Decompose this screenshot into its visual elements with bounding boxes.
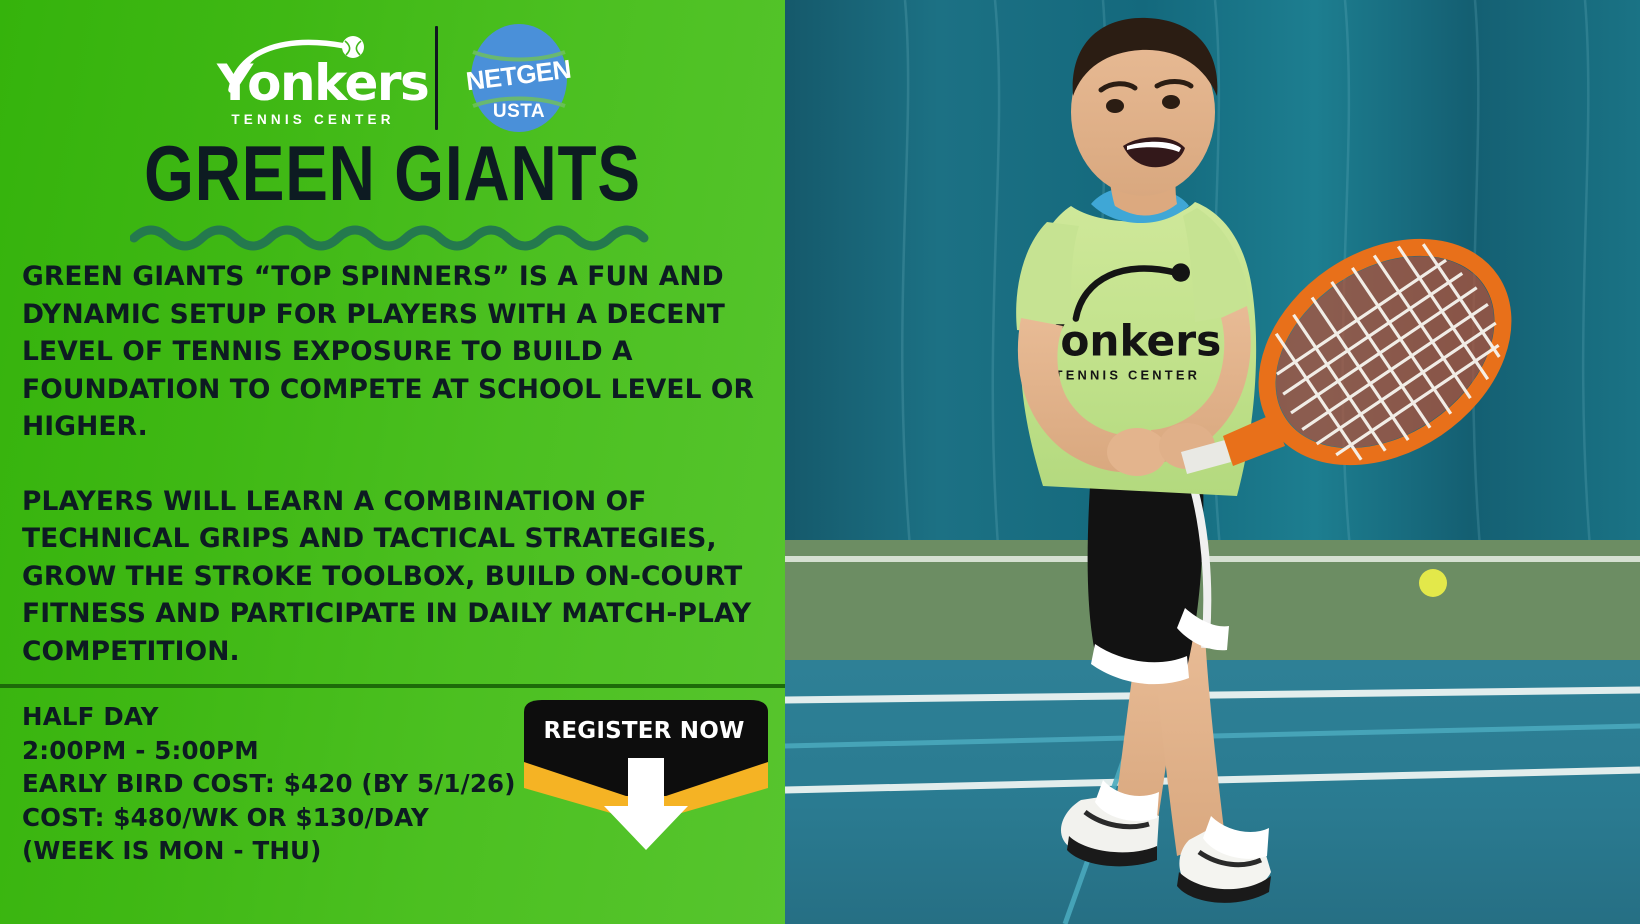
svg-text:TENNIS CENTER: TENNIS CENTER (1055, 367, 1201, 382)
detail-session-time: 2:00PM - 5:00PM (22, 734, 522, 768)
detail-cost: COST: $480/WK OR $130/DAY (22, 801, 522, 835)
detail-session-type: HALF DAY (22, 700, 522, 734)
page-title: GREEN GIANTS (71, 134, 715, 212)
club-name: Yonkers (217, 58, 413, 108)
svg-text:Yonkers: Yonkers (1033, 316, 1222, 365)
apron-line (785, 556, 1640, 562)
tennis-ball (1419, 569, 1447, 597)
paragraph-spacer (22, 446, 767, 483)
svg-text:USTA: USTA (493, 101, 545, 122)
photo-illustration: Yonkers TENNIS CENTER (785, 0, 1640, 924)
player-eye-left (1106, 99, 1124, 113)
player-left-hand (1107, 428, 1167, 476)
netgen-ball-icon: NETGEN USTA (466, 22, 572, 134)
yonkers-tennis-center-logo: Yonkers TENNIS CENTER (213, 28, 413, 128)
body-paragraph-2: PLAYERS WILL LEARN A COMBINATION OF TECH… (22, 483, 767, 671)
register-now-button[interactable]: REGISTER NOW (516, 700, 776, 850)
wave-divider (130, 218, 650, 252)
section-divider (0, 684, 785, 688)
details-list: HALF DAY 2:00PM - 5:00PM EARLY BIRD COST… (22, 700, 522, 868)
detail-week-note: (WEEK IS MON - THU) (22, 834, 522, 868)
player-eye-right (1162, 95, 1180, 109)
club-tagline: TENNIS CENTER (213, 112, 413, 127)
tennis-player-photo: Yonkers TENNIS CENTER (785, 0, 1640, 924)
body-copy: GREEN GIANTS “TOP SPINNERS” IS A FUN AND… (22, 258, 767, 670)
logo-row: Yonkers TENNIS CENTER NETGEN USTA (0, 22, 785, 134)
netgen-usta-logo: NETGEN USTA (466, 22, 572, 134)
detail-early-bird: EARLY BIRD COST: $420 (BY 5/1/26) (22, 767, 522, 801)
player-shorts (1088, 470, 1204, 676)
logo-divider (435, 26, 438, 130)
body-paragraph-1: GREEN GIANTS “TOP SPINNERS” IS A FUN AND… (22, 258, 767, 446)
poster-flyer: Yonkers TENNIS CENTER NETGEN USTA GREEN … (0, 0, 1640, 924)
left-content-panel: Yonkers TENNIS CENTER NETGEN USTA GREEN … (0, 0, 785, 924)
